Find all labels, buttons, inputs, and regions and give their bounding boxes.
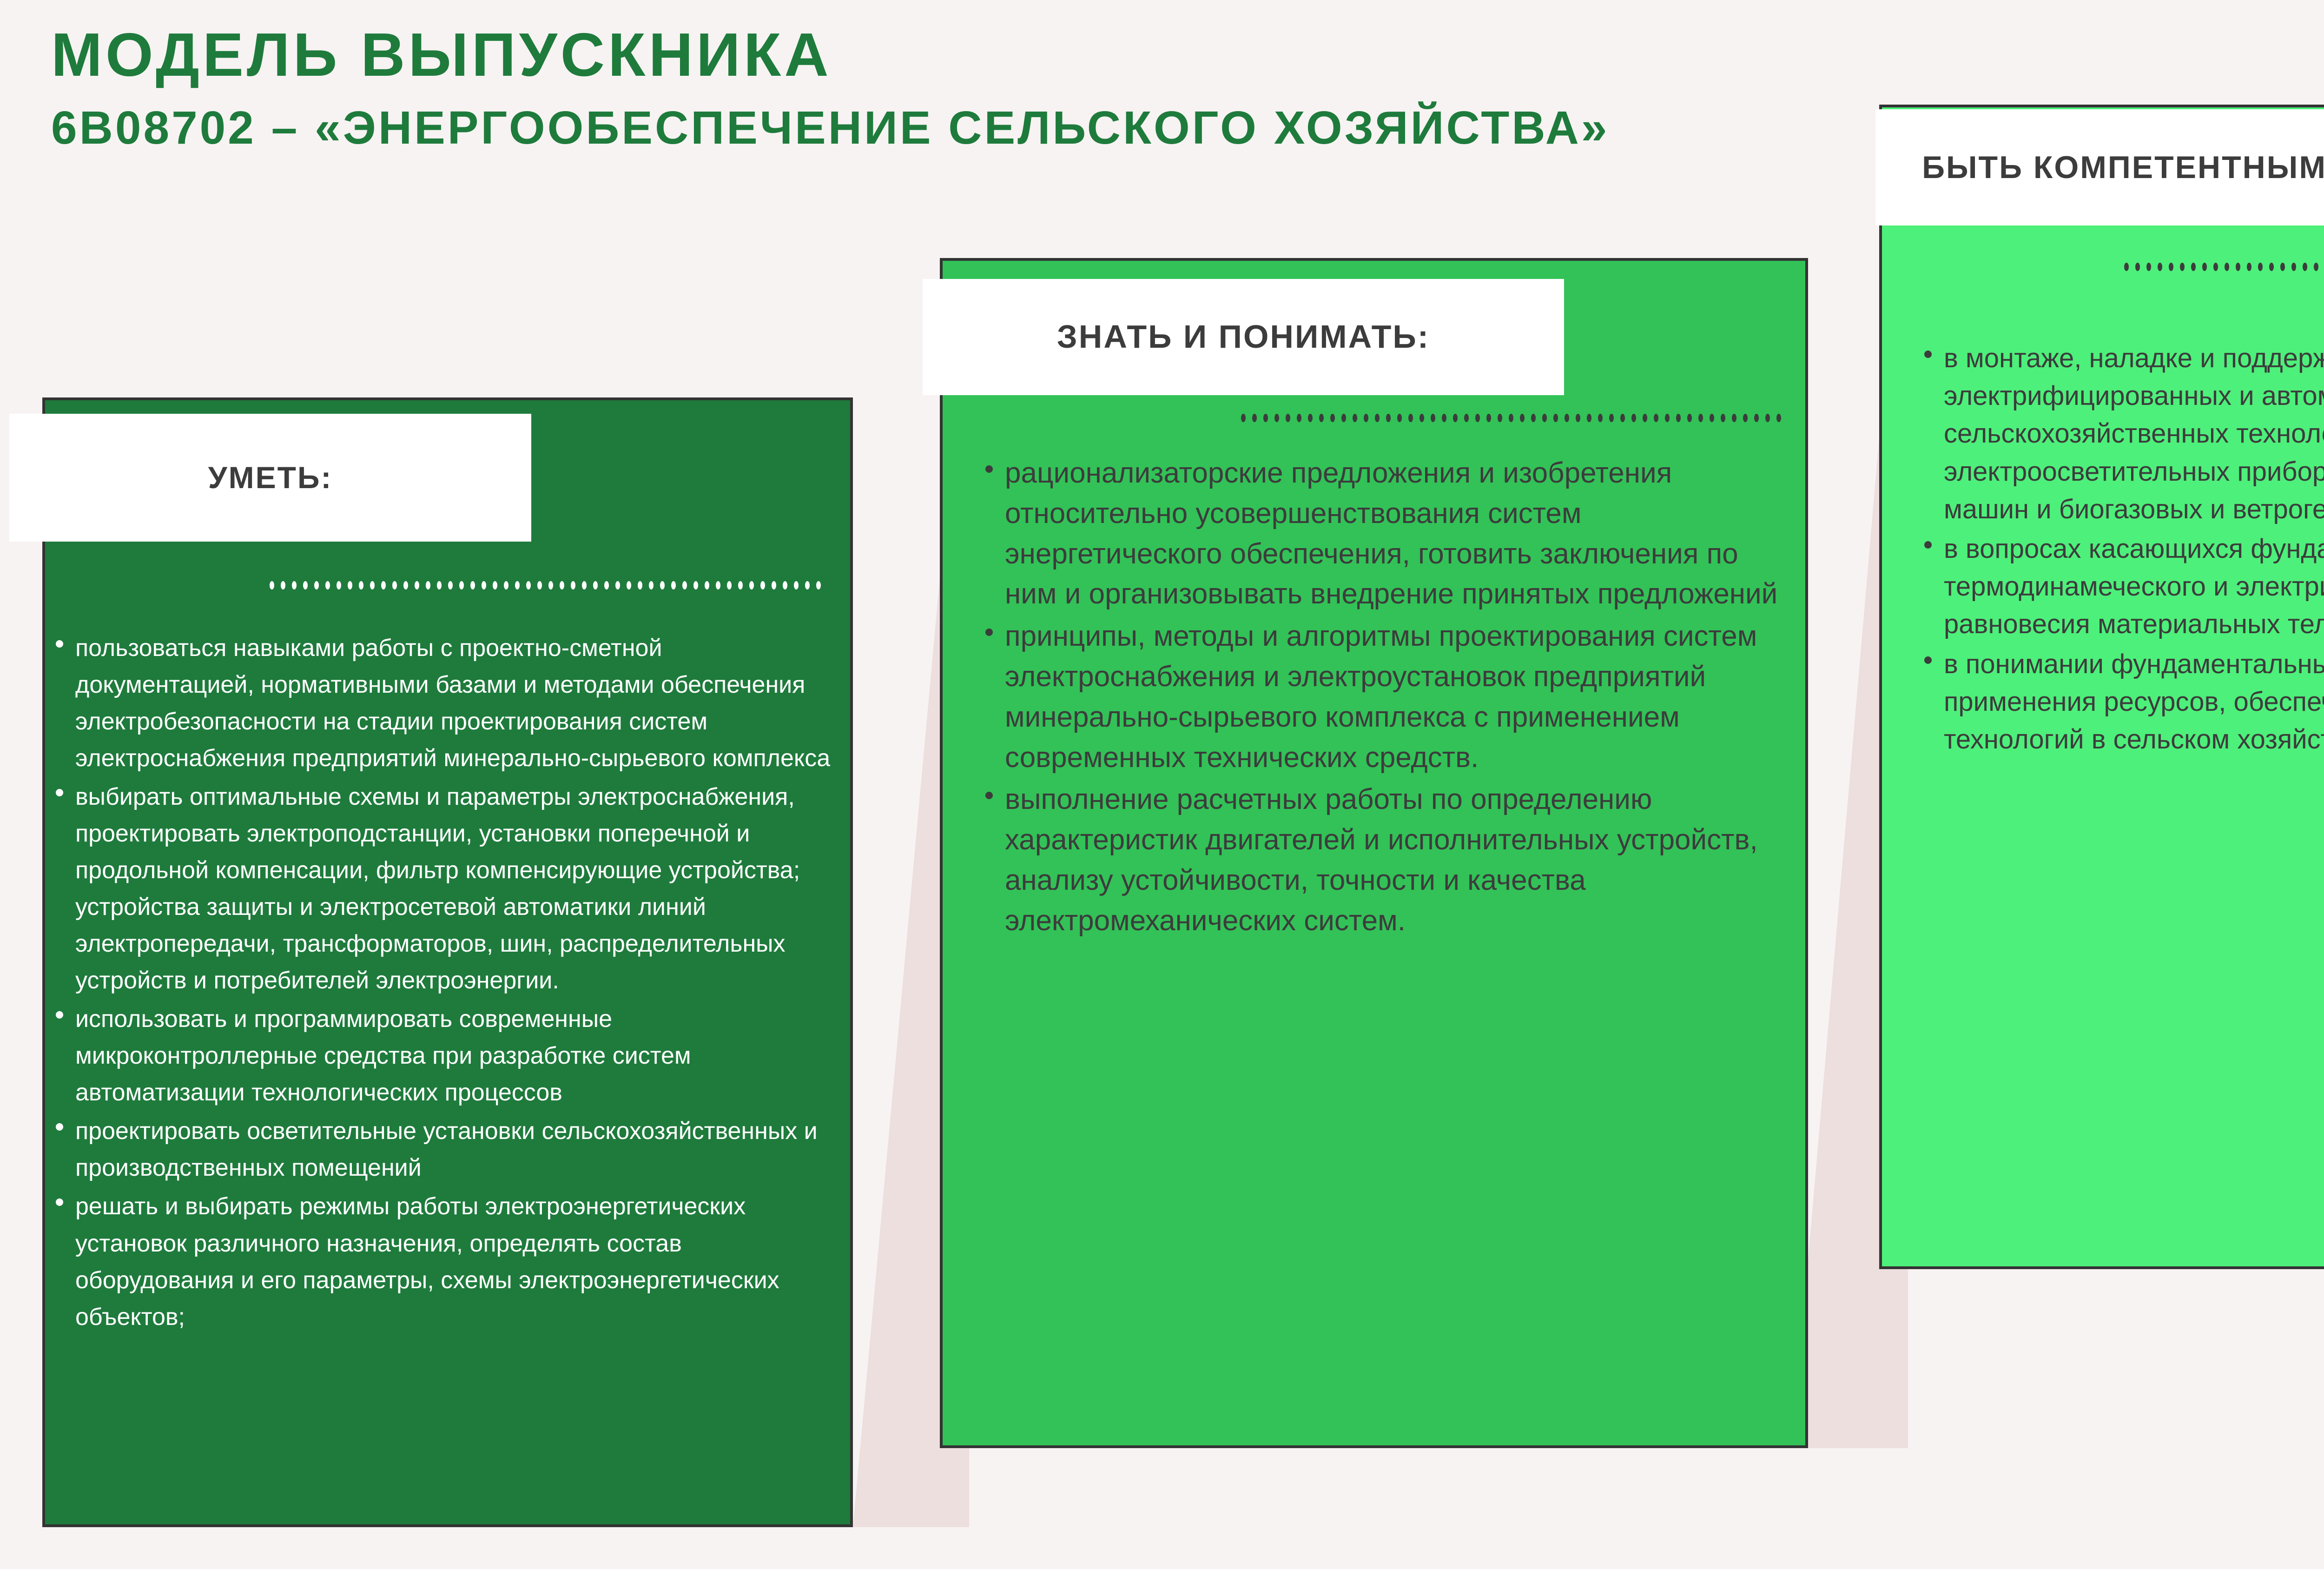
- divider-dot: [671, 581, 676, 589]
- divider-dot: [2236, 263, 2240, 271]
- divider-dot: [627, 581, 631, 589]
- dotted-divider-znat: [1241, 414, 1789, 422]
- divider-dot: [1732, 414, 1736, 422]
- bullet-list-znat: рационализаторские предложения и изобрет…: [981, 453, 1789, 943]
- divider-dot: [2124, 263, 2129, 271]
- divider-dot: [604, 581, 609, 589]
- divider-dot: [1765, 414, 1770, 422]
- list-item: рационализаторские предложения и изобрет…: [981, 453, 1789, 615]
- divider-dot: [660, 581, 665, 589]
- list-item: пользоваться навыками работы с проектно-…: [51, 630, 841, 777]
- divider-dot: [615, 581, 620, 589]
- divider-dot: [1654, 414, 1658, 422]
- divider-dot: [1542, 414, 1547, 422]
- divider-dot: [1609, 414, 1614, 422]
- card-heading-znat: ЗНАТЬ И ПОНИМАТЬ:: [1057, 317, 1430, 357]
- divider-dot: [1631, 414, 1636, 422]
- divider-dot: [2269, 263, 2274, 271]
- divider-dot: [738, 581, 743, 589]
- divider-dot: [437, 581, 442, 589]
- page-title: МОДЕЛЬ ВЫПУСКНИКА 6B08702 – «ЭНЕРГООБЕСП…: [51, 19, 1794, 158]
- divider-dot: [515, 581, 520, 589]
- divider-dot: [1576, 414, 1580, 422]
- card-heading-plaque-umet: УМЕТЬ:: [9, 414, 531, 542]
- divider-dot: [749, 581, 754, 589]
- list-item: выбирать оптимальные схемы и параметры э…: [51, 779, 841, 999]
- divider-dot: [727, 581, 732, 589]
- divider-dot: [1453, 414, 1458, 422]
- divider-dot: [303, 581, 308, 589]
- divider-dot: [281, 581, 285, 589]
- divider-dot: [2213, 263, 2218, 271]
- card-heading-umet: УМЕТЬ:: [208, 459, 333, 497]
- divider-dot: [816, 581, 821, 589]
- program-subtitle: 6B08702 – «ЭНЕРГООБЕСПЕЧЕНИЕ СЕЛЬСКОГО Х…: [51, 98, 1771, 158]
- divider-dot: [649, 581, 654, 589]
- divider-dot: [459, 581, 464, 589]
- divider-dot: [548, 581, 553, 589]
- divider-dot: [381, 581, 386, 589]
- divider-dot: [2291, 263, 2296, 271]
- dotted-divider-kompetentnym: [2124, 263, 2324, 271]
- divider-dot: [1710, 414, 1714, 422]
- divider-dot: [805, 581, 810, 589]
- divider-dot: [716, 581, 720, 589]
- divider-dot: [1643, 414, 1647, 422]
- bullet-list-umet: пользоваться навыками работы с проектно-…: [51, 630, 841, 1337]
- divider-dot: [2169, 263, 2173, 271]
- divider-dot: [1464, 414, 1469, 422]
- list-item: в монтаже, наладке и поддержании режимов…: [1920, 339, 2324, 528]
- divider-dot: [1754, 414, 1759, 422]
- divider-dot: [1297, 414, 1301, 422]
- divider-dot: [1698, 414, 1703, 422]
- divider-dot: [2303, 263, 2307, 271]
- divider-dot: [2135, 263, 2140, 271]
- divider-dot: [1364, 414, 1368, 422]
- divider-dot: [292, 581, 297, 589]
- divider-dot: [415, 581, 419, 589]
- divider-dot: [1486, 414, 1491, 422]
- divider-dot: [2247, 263, 2251, 271]
- divider-dot: [359, 581, 363, 589]
- divider-dot: [2258, 263, 2263, 271]
- divider-dot: [1353, 414, 1357, 422]
- divider-dot: [1408, 414, 1413, 422]
- divider-dot: [337, 581, 341, 589]
- divider-dot: [760, 581, 765, 589]
- divider-dot: [1687, 414, 1692, 422]
- divider-dot: [1598, 414, 1603, 422]
- divider-dot: [794, 581, 799, 589]
- divider-dot: [705, 581, 709, 589]
- divider-dot: [772, 581, 776, 589]
- divider-dot: [426, 581, 430, 589]
- divider-dot: [2225, 263, 2229, 271]
- divider-dot: [1743, 414, 1748, 422]
- divider-dot: [1665, 414, 1670, 422]
- divider-dot: [1520, 414, 1525, 422]
- list-item: выполнение расчетных работы по определен…: [981, 780, 1789, 941]
- divider-dot: [482, 581, 486, 589]
- divider-dot: [403, 581, 408, 589]
- list-item: в вопросах касающихся фундаментальных за…: [1920, 530, 2324, 643]
- divider-dot: [682, 581, 687, 589]
- divider-dot: [1241, 414, 1246, 422]
- divider-dot: [593, 581, 598, 589]
- main-title: МОДЕЛЬ ВЫПУСКНИКА: [51, 19, 1794, 91]
- divider-dot: [2158, 263, 2162, 271]
- divider-dot: [2146, 263, 2151, 271]
- divider-dot: [370, 581, 375, 589]
- bullet-list-kompetentnym: в монтаже, наладке и поддержании режимов…: [1920, 339, 2324, 760]
- divider-dot: [526, 581, 531, 589]
- divider-dot: [582, 581, 587, 589]
- divider-dot: [1553, 414, 1558, 422]
- divider-dot: [2314, 263, 2318, 271]
- divider-dot: [783, 581, 787, 589]
- divider-dot: [1509, 414, 1513, 422]
- divider-dot: [1319, 414, 1324, 422]
- list-item: использовать и программировать современн…: [51, 1001, 841, 1111]
- divider-dot: [448, 581, 453, 589]
- divider-dot: [493, 581, 497, 589]
- divider-dot: [693, 581, 698, 589]
- divider-dot: [560, 581, 564, 589]
- divider-dot: [1263, 414, 1268, 422]
- divider-dot: [270, 581, 274, 589]
- divider-dot: [1397, 414, 1402, 422]
- list-item: принципы, методы и алгоритмы проектирова…: [981, 616, 1789, 778]
- divider-dot: [1431, 414, 1435, 422]
- divider-dot: [571, 581, 575, 589]
- divider-dot: [470, 581, 475, 589]
- list-item: в понимании фундаментальных законов эффе…: [1920, 645, 2324, 759]
- divider-dot: [1286, 414, 1290, 422]
- divider-dot: [638, 581, 642, 589]
- divider-dot: [314, 581, 319, 589]
- divider-dot: [325, 581, 330, 589]
- divider-dot: [537, 581, 542, 589]
- divider-dot: [1776, 414, 1781, 422]
- divider-dot: [2180, 263, 2185, 271]
- dotted-divider-umet: [270, 581, 827, 589]
- divider-dot: [392, 581, 397, 589]
- divider-dot: [1442, 414, 1446, 422]
- divider-dot: [1308, 414, 1313, 422]
- divider-dot: [1375, 414, 1380, 422]
- divider-dot: [1475, 414, 1480, 422]
- divider-dot: [1620, 414, 1625, 422]
- divider-dot: [2202, 263, 2207, 271]
- divider-dot: [1274, 414, 1279, 422]
- card-heading-kompetentnym: БЫТЬ КОМПЕТЕНТНЫМ В ВОПРОСАХ:: [1922, 148, 2324, 187]
- list-item: решать и выбирать режимы работы электроэ…: [51, 1188, 841, 1335]
- divider-dot: [348, 581, 352, 589]
- divider-dot: [1721, 414, 1725, 422]
- divider-dot: [1341, 414, 1346, 422]
- divider-dot: [2280, 263, 2285, 271]
- card-heading-plaque-znat: ЗНАТЬ И ПОНИМАТЬ:: [923, 279, 1564, 395]
- divider-dot: [1587, 414, 1591, 422]
- divider-dot: [2191, 263, 2196, 271]
- divider-dot: [1531, 414, 1536, 422]
- card-heading-plaque-kompetentnym: БЫТЬ КОМПЕТЕНТНЫМ В ВОПРОСАХ:: [1875, 109, 2324, 225]
- divider-dot: [1419, 414, 1424, 422]
- divider-dot: [1676, 414, 1681, 422]
- divider-dot: [504, 581, 508, 589]
- list-item: проектировать осветительные установки се…: [51, 1113, 841, 1186]
- divider-dot: [1252, 414, 1257, 422]
- divider-dot: [1386, 414, 1391, 422]
- divider-dot: [1565, 414, 1569, 422]
- divider-dot: [1498, 414, 1502, 422]
- slide-canvas: МОДЕЛЬ ВЫПУСКНИКА 6B08702 – «ЭНЕРГООБЕСП…: [0, 0, 2324, 1569]
- divider-dot: [1330, 414, 1335, 422]
